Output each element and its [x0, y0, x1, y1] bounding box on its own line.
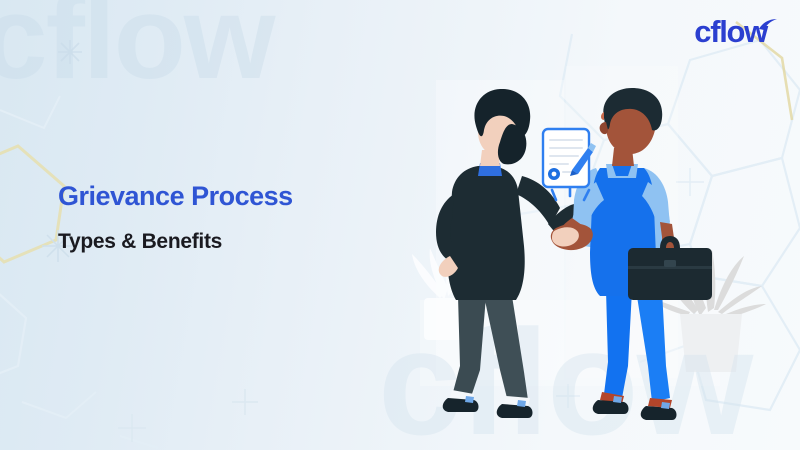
promo-banner: cflow cflow — [0, 0, 800, 450]
page-subtitle: Types & Benefits — [58, 230, 293, 253]
signed-document-icon — [543, 129, 596, 187]
headline-block: Grievance Process Types & Benefits — [58, 182, 293, 253]
swoosh-accent-icon — [758, 18, 778, 32]
cflow-logo[interactable]: cflow — [694, 16, 778, 47]
logo-wordmark: cflow — [694, 16, 767, 47]
page-title: Grievance Process — [58, 182, 293, 212]
